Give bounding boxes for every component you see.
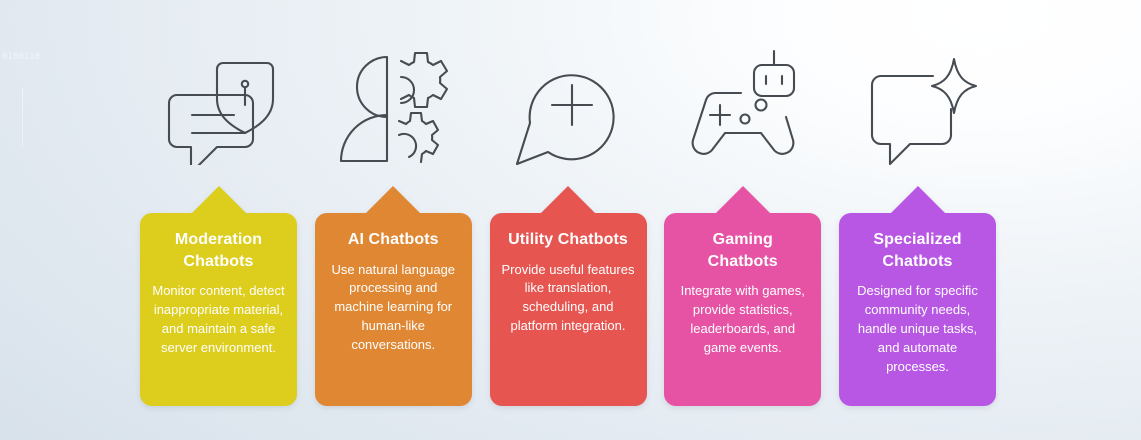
- card-notch: [365, 186, 421, 214]
- card-description: Provide useful features like translation…: [502, 261, 635, 336]
- category-column-moderation: Moderation Chatbots Monitor content, det…: [140, 0, 297, 440]
- card-body: Moderation Chatbots Monitor content, det…: [140, 213, 297, 406]
- card-description: Designed for specific community needs, h…: [851, 282, 984, 376]
- card-title: Gaming Chatbots: [676, 229, 809, 272]
- category-column-gaming: Gaming Chatbots Integrate with games, pr…: [664, 0, 821, 440]
- watermark-divider: [22, 88, 23, 146]
- gamepad-robot-icon: [678, 48, 808, 166]
- card-gaming-chatbots[interactable]: Gaming Chatbots Integrate with games, pr…: [664, 186, 821, 406]
- card-description: Monitor content, detect inappropriate ma…: [152, 282, 285, 357]
- card-notch: [715, 186, 771, 214]
- card-description: Use natural language processing and mach…: [327, 261, 460, 355]
- card-notch: [890, 186, 946, 214]
- card-body: AI Chatbots Use natural language process…: [315, 213, 472, 406]
- head-gears-icon: [328, 48, 458, 166]
- chat-sparkle-icon: [853, 48, 983, 166]
- card-body: Utility Chatbots Provide useful features…: [490, 213, 647, 406]
- card-description: Integrate with games, provide statistics…: [676, 282, 809, 357]
- card-notch: [191, 186, 247, 214]
- card-specialized-chatbots[interactable]: Specialized Chatbots Designed for specif…: [839, 186, 996, 406]
- card-title: Specialized Chatbots: [851, 229, 984, 272]
- card-utility-chatbots[interactable]: Utility Chatbots Provide useful features…: [490, 186, 647, 406]
- infographic-canvas: 0100110 Moderation Chatbots Monitor con: [0, 0, 1141, 440]
- shield-chat-icon: [154, 48, 284, 166]
- card-notch: [540, 186, 596, 214]
- chatbot-category-list: Moderation Chatbots Monitor content, det…: [140, 0, 996, 440]
- card-title: Utility Chatbots: [502, 229, 635, 251]
- card-body: Specialized Chatbots Designed for specif…: [839, 213, 996, 406]
- card-ai-chatbots[interactable]: AI Chatbots Use natural language process…: [315, 186, 472, 406]
- chat-plus-icon: [503, 48, 633, 166]
- category-column-utility: Utility Chatbots Provide useful features…: [490, 0, 647, 440]
- category-column-ai: AI Chatbots Use natural language process…: [315, 0, 472, 440]
- card-title: AI Chatbots: [327, 229, 460, 251]
- card-title: Moderation Chatbots: [152, 229, 285, 272]
- category-column-specialized: Specialized Chatbots Designed for specif…: [839, 0, 996, 440]
- binary-watermark: 0100110: [2, 52, 16, 62]
- card-body: Gaming Chatbots Integrate with games, pr…: [664, 213, 821, 406]
- card-moderation-chatbots[interactable]: Moderation Chatbots Monitor content, det…: [140, 186, 297, 406]
